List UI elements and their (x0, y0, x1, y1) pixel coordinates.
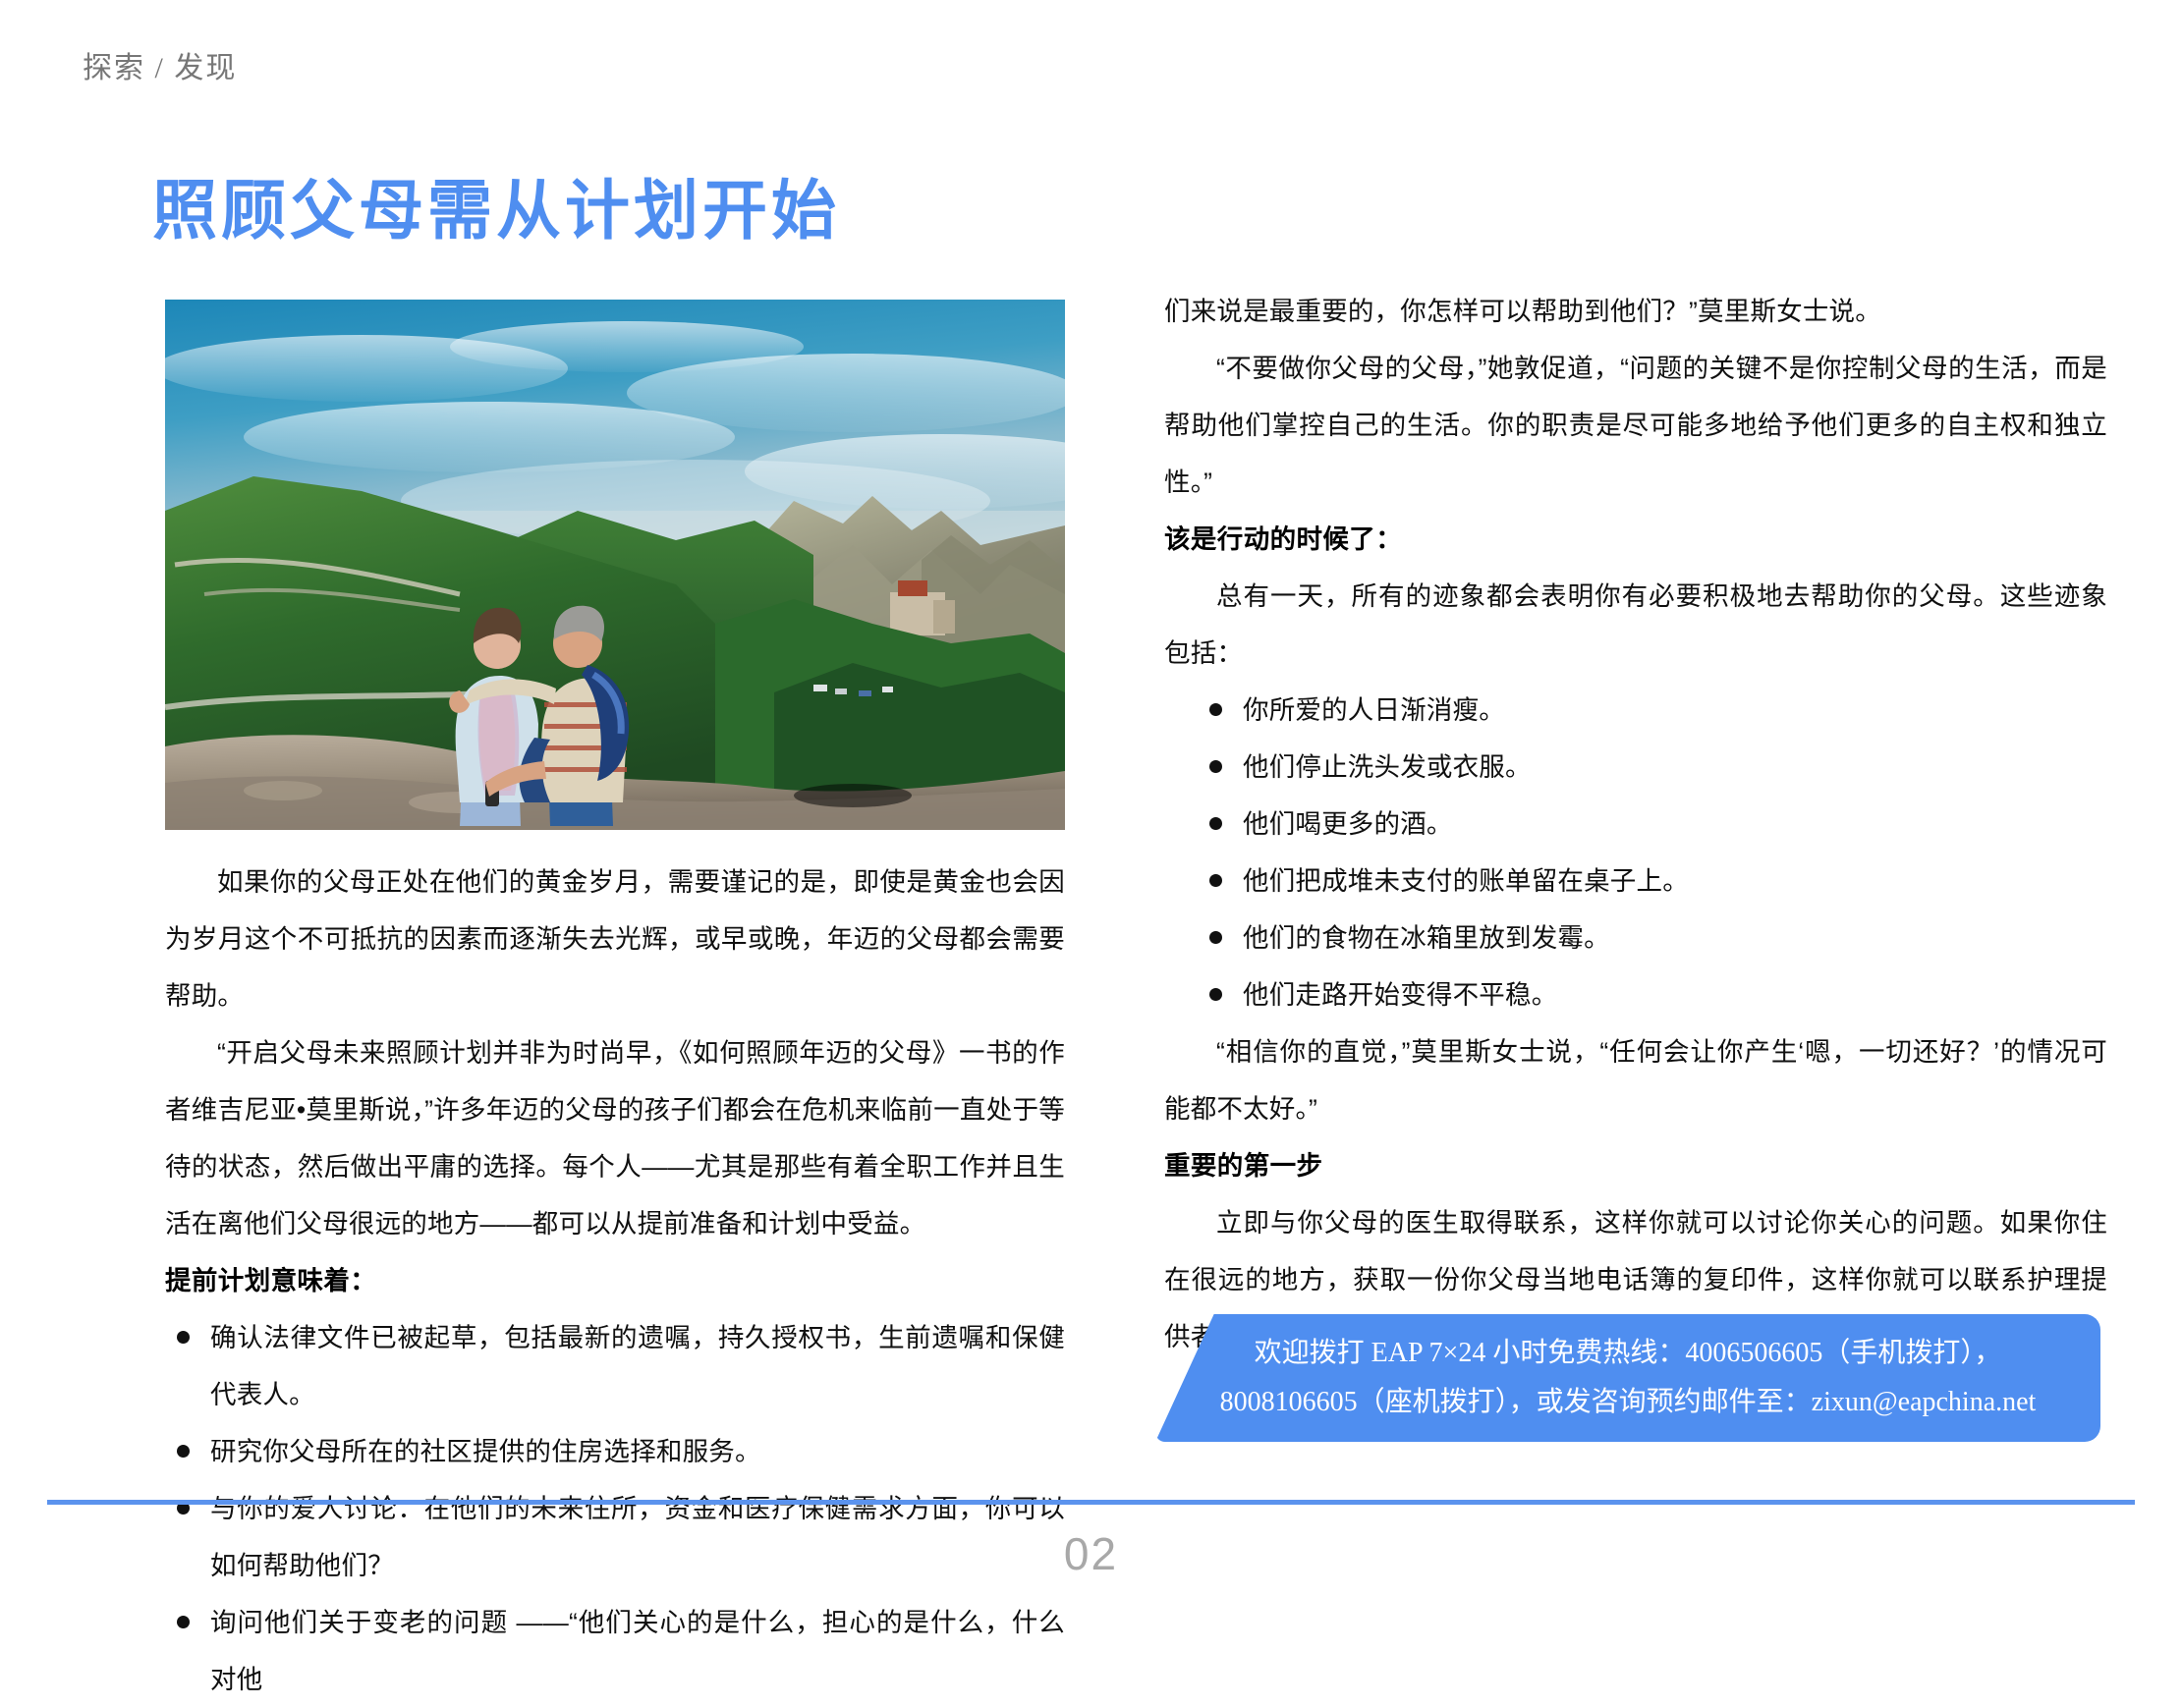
list-item: 他们停止洗头发或衣服。 (1164, 739, 2107, 796)
left-subhead: 提前计划意味着： (165, 1252, 1065, 1309)
left-bullet-list: 确认法律文件已被起草，包括最新的遗嘱，持久授权书，生前遗嘱和保健代表人。 研究你… (165, 1309, 1065, 1708)
page-title: 照顾父母需从计划开始 (152, 178, 840, 243)
list-item-label: 询问他们关于变老的问题 ——“他们关心的是什么，担心的是什么，什么对他 (210, 1608, 1065, 1694)
bullet-dot-icon (1209, 703, 1222, 716)
left-paragraph-1: 如果你的父母正处在他们的黄金岁月，需要谨记的是，即使是黄金也会因为岁月这个不可抵… (165, 854, 1065, 1024)
list-item-label: 他们把成堆未支付的账单留在桌子上。 (1243, 866, 1689, 896)
left-column: 如果你的父母正处在他们的黄金岁月，需要谨记的是，即使是黄金也会因为岁月这个不可抵… (165, 300, 1065, 1708)
hero-photo (165, 300, 1065, 830)
right-bullet-list: 你所爱的人日渐消瘦。 他们停止洗头发或衣服。 他们喝更多的酒。 他们把成堆未支付… (1164, 682, 2107, 1023)
footer-divider (47, 1500, 2135, 1505)
bullet-dot-icon (177, 1616, 190, 1628)
right-paragraph-continued: 们来说是最重要的，你怎样可以帮助到他们？”莫里斯女士说。 (1164, 283, 2107, 340)
right-paragraph-4: “相信你的直觉，”莫里斯女士说，“任何会让你产生‘嗯，一切还好？’的情况可能都不… (1164, 1023, 2107, 1137)
list-item: 研究你父母所在的社区提供的住房选择和服务。 (165, 1423, 1065, 1480)
list-item-label: 他们的食物在冰箱里放到发霉。 (1243, 923, 1610, 953)
callout-text: 欢迎拨打 EAP 7×24 小时免费热线：4006506605（手机拨打）， 8… (1155, 1314, 2100, 1442)
bullet-dot-icon (177, 1445, 190, 1458)
right-paragraph-2: “不要做你父母的父母，”她敦促道，“问题的关键不是你控制父母的生活，而是帮助他们… (1164, 340, 2107, 511)
callout-line-2: 8008106605（座机拨打），或发咨询预约邮件至：zixun@eapchin… (1220, 1378, 2037, 1427)
bullet-dot-icon (1209, 988, 1222, 1001)
list-item: 确认法律文件已被起草，包括最新的遗嘱，持久授权书，生前遗嘱和保健代表人。 (165, 1309, 1065, 1423)
right-subhead-1: 该是行动的时候了： (1164, 511, 2107, 568)
list-item-label: 他们喝更多的酒。 (1243, 809, 1453, 839)
callout-line-1: 欢迎拨打 EAP 7×24 小时免费热线：4006506605（手机拨打）， (1255, 1329, 2002, 1378)
list-item-label: 研究你父母所在的社区提供的住房选择和服务。 (210, 1437, 761, 1466)
list-item: 你所爱的人日渐消瘦。 (1164, 682, 2107, 739)
bullet-dot-icon (1209, 760, 1222, 773)
list-item-label: 他们停止洗头发或衣服。 (1243, 752, 1532, 782)
right-paragraph-3: 总有一天，所有的迹象都会表明你有必要积极地去帮助你的父母。这些迹象包括： (1164, 568, 2107, 682)
list-item-label: 你所爱的人日渐消瘦。 (1243, 695, 1505, 725)
page-number: 02 (0, 1527, 2182, 1580)
list-item: 他们走路开始变得不平稳。 (1164, 966, 2107, 1023)
right-column: 们来说是最重要的，你怎样可以帮助到他们？”莫里斯女士说。 “不要做你父母的父母，… (1164, 283, 2107, 1365)
bullet-dot-icon (1209, 874, 1222, 887)
list-item-label: 确认法律文件已被起草，包括最新的遗嘱，持久授权书，生前遗嘱和保健代表人。 (210, 1323, 1065, 1409)
running-head: 探索 / 发现 (83, 43, 237, 86)
bullet-dot-icon (1209, 931, 1222, 944)
hero-photo-artwork (165, 300, 1065, 830)
bullet-dot-icon (177, 1331, 190, 1344)
list-item-label: 他们走路开始变得不平稳。 (1243, 980, 1557, 1010)
list-item: 他们的食物在冰箱里放到发霉。 (1164, 909, 2107, 966)
left-paragraph-2: “开启父母未来照顾计划并非为时尚早，《如何照顾年迈的父母》一书的作者维吉尼亚•莫… (165, 1024, 1065, 1252)
bullet-dot-icon (1209, 817, 1222, 830)
list-item: 他们把成堆未支付的账单留在桌子上。 (1164, 853, 2107, 909)
list-item: 他们喝更多的酒。 (1164, 796, 2107, 853)
list-item: 询问他们关于变老的问题 ——“他们关心的是什么，担心的是什么，什么对他 (165, 1594, 1065, 1708)
eap-hotline-callout: 欢迎拨打 EAP 7×24 小时免费热线：4006506605（手机拨打）， 8… (1155, 1314, 2100, 1442)
right-subhead-2: 重要的第一步 (1164, 1137, 2107, 1194)
